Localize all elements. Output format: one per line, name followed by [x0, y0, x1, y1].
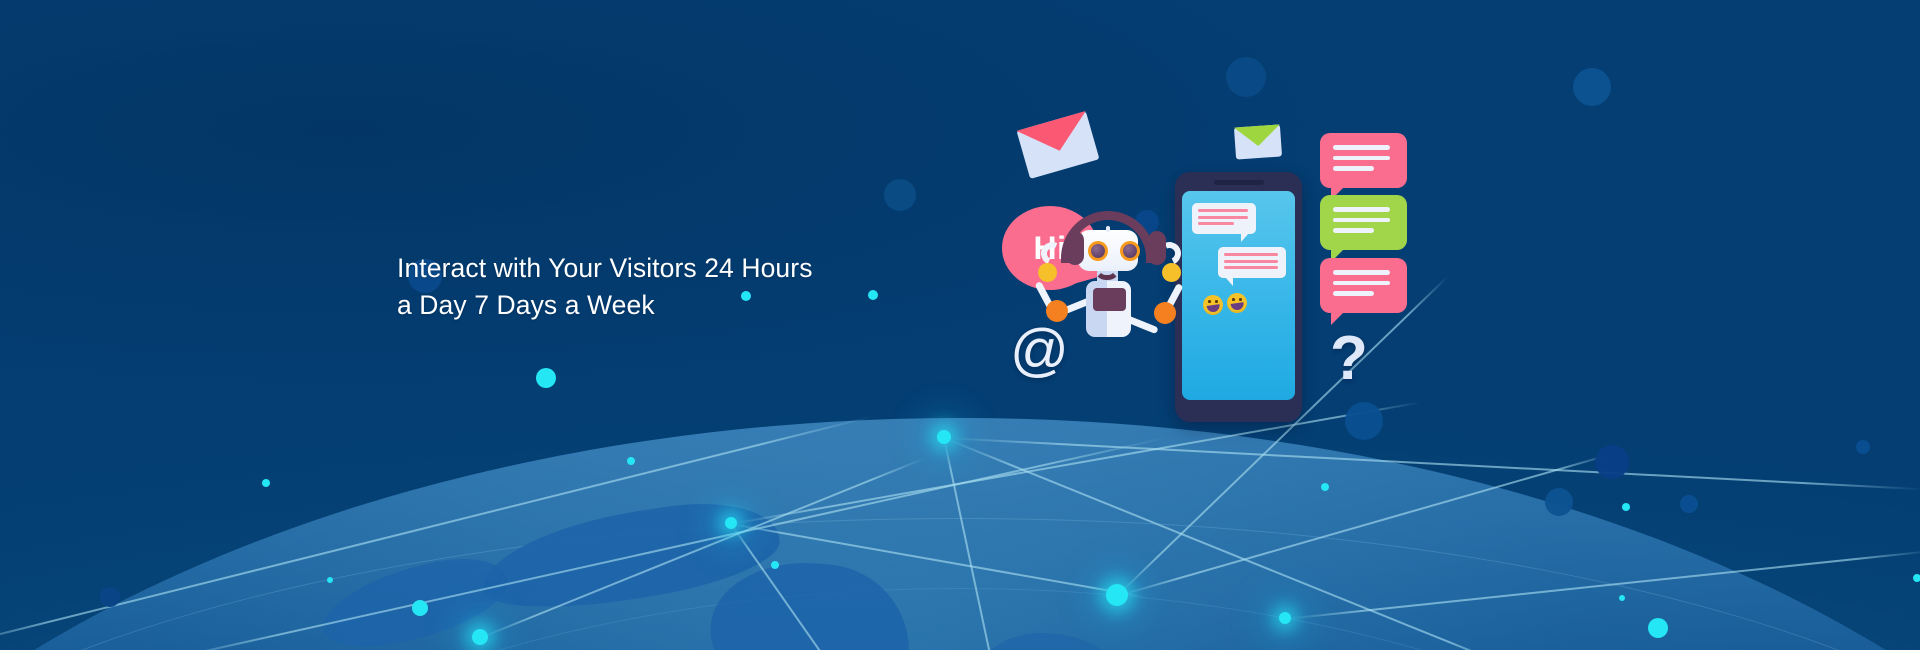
- hero-banner: Interact with Your Visitors 24 Hours a D…: [0, 0, 1920, 650]
- decor-dot-8: [771, 561, 779, 569]
- decor-circle-6: [1545, 488, 1573, 516]
- question-mark-icon: ?: [1330, 328, 1368, 390]
- decor-dot-10: [1622, 503, 1630, 511]
- decor-circle-9: [100, 587, 120, 607]
- background-vignette: [0, 0, 1920, 650]
- robot-eye-left: [1088, 241, 1108, 261]
- phone-screen: [1182, 191, 1295, 400]
- network-node-4: [472, 629, 488, 645]
- decor-dot-1: [262, 479, 270, 487]
- phone-chat-bubble-2-tail: [1225, 277, 1233, 286]
- decor-dot-11: [1619, 595, 1625, 601]
- decor-circle-5: [1595, 445, 1629, 479]
- network-node-5: [1279, 612, 1291, 624]
- decor-circle-2: [1226, 57, 1266, 97]
- envelope-green: [1234, 124, 1282, 159]
- chat-bubble-pink-top: [1320, 133, 1407, 188]
- decor-dot-12: [1648, 618, 1668, 638]
- smiley-emoji-1: [1203, 295, 1223, 315]
- at-symbol-icon: @: [1010, 322, 1069, 380]
- headline-line-1: Interact with Your Visitors 24 Hours: [397, 250, 1037, 287]
- decor-circle-3: [1573, 68, 1611, 106]
- headline-line-2: a Day 7 Days a Week: [397, 287, 1037, 324]
- robot-chest-screen: [1093, 288, 1126, 311]
- robot-joint-right-elbow: [1154, 302, 1176, 324]
- decor-circle-11: [884, 179, 916, 211]
- decor-dot-4: [536, 368, 556, 388]
- decor-dot-3: [412, 600, 428, 616]
- robot-headphone-right: [1148, 231, 1166, 265]
- chat-bubble-green: [1320, 195, 1407, 250]
- decor-circle-8: [1856, 440, 1870, 454]
- robot-headphone-left: [1066, 231, 1084, 265]
- decor-dot-13: [1913, 574, 1920, 582]
- robot-antenna: [1106, 226, 1110, 232]
- decor-circle-7: [1680, 495, 1698, 513]
- robot-joint-left-elbow: [1046, 300, 1068, 322]
- chat-bubble-pink-bottom-tail: [1331, 312, 1344, 325]
- chatbot-illustration: Hi @ ?: [1040, 100, 1540, 540]
- phone-speaker: [1214, 180, 1264, 185]
- smartphone: [1175, 172, 1302, 422]
- envelope-green-flap: [1234, 124, 1281, 147]
- phone-chat-bubble-1: [1192, 203, 1256, 234]
- network-node-1: [725, 517, 737, 529]
- network-node-2: [937, 430, 951, 444]
- page-title: Interact with Your Visitors 24 Hours a D…: [397, 250, 1037, 324]
- smiley-emoji-2: [1227, 293, 1247, 313]
- robot-joint-left-wrist: [1038, 263, 1057, 282]
- phone-chat-bubble-2: [1218, 247, 1286, 278]
- decor-dot-5: [627, 457, 635, 465]
- chat-bubble-pink-bottom: [1320, 258, 1407, 313]
- robot-eye-right: [1120, 241, 1140, 261]
- network-node-3: [1106, 584, 1128, 606]
- decor-dot-2: [327, 577, 333, 583]
- phone-chat-bubble-1-tail: [1241, 233, 1249, 242]
- robot-joint-right-wrist: [1162, 263, 1181, 282]
